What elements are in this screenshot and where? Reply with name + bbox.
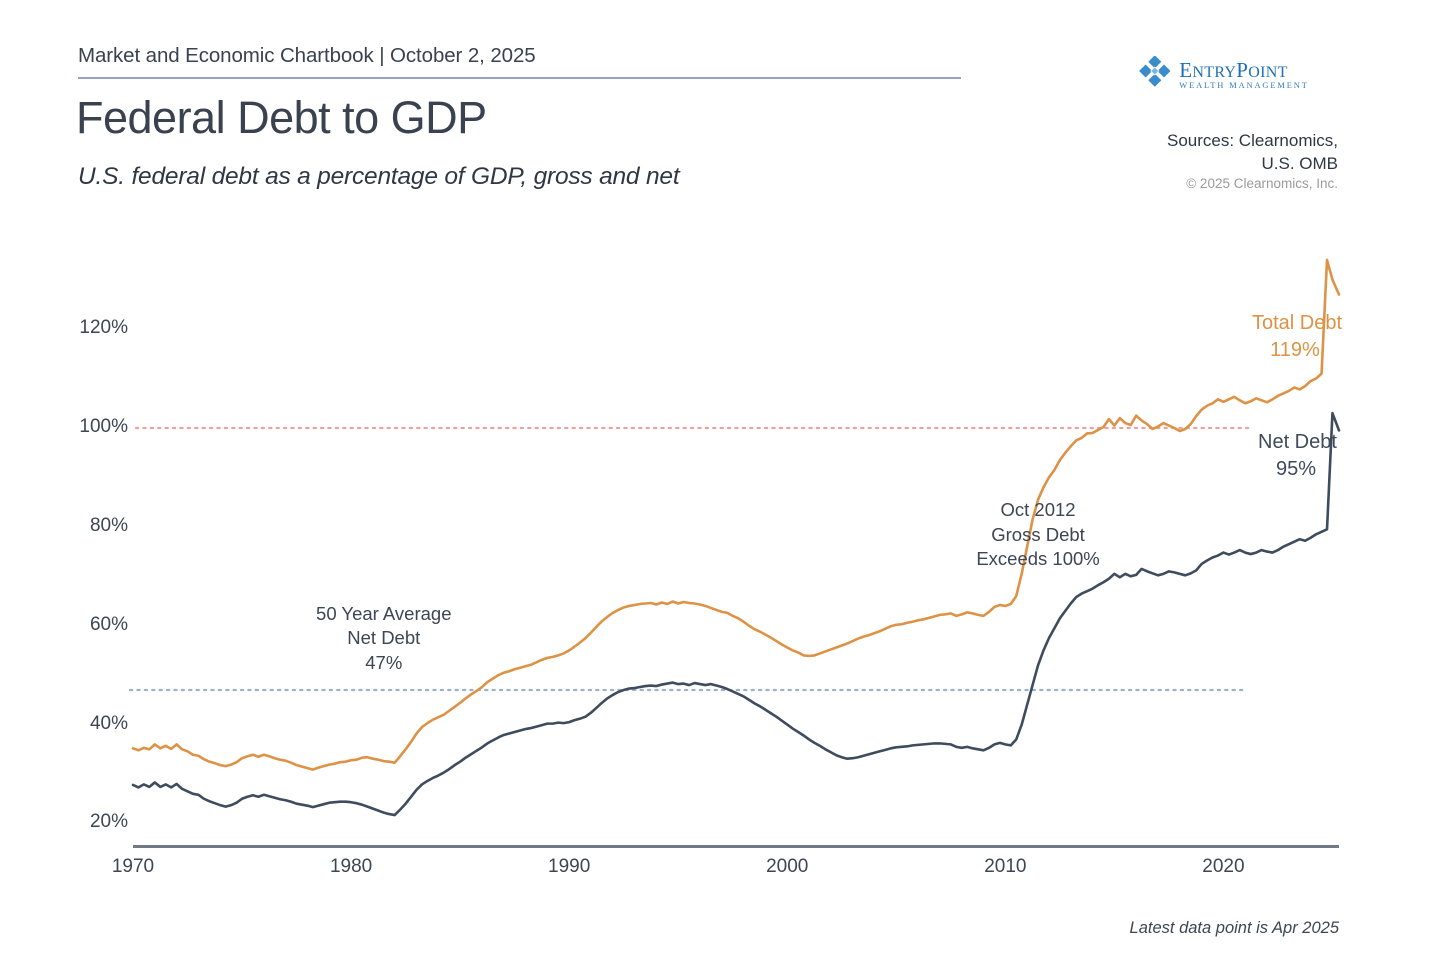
series-label-net-debt: Net Debt 95%: [1258, 429, 1337, 483]
oct-2012-annotation: Oct 2012Gross DebtExceeds 100%: [928, 498, 1148, 572]
y-tick-120: 120%: [48, 317, 128, 339]
x-tick-1980: 1980: [306, 856, 396, 878]
fifty-year-average-annotation-line-3: 47%: [274, 651, 494, 676]
x-tick-2020: 2020: [1178, 856, 1268, 878]
sources-line-1: Sources: Clearnomics,: [1058, 130, 1338, 153]
sources-line-2: U.S. OMB: [1058, 153, 1338, 176]
oct-2012-annotation-line-3: Exceeds 100%: [928, 547, 1148, 572]
logo-name-oint: OINT: [1248, 64, 1287, 81]
fifty-year-average-annotation-line-1: 50 Year Average: [274, 602, 494, 627]
x-tick-2010: 2010: [960, 856, 1050, 878]
series-label-total-debt-text: Total Debt: [1252, 312, 1342, 334]
y-tick-100: 100%: [48, 416, 128, 438]
series-label-net-debt-value: 95%: [1258, 456, 1334, 483]
page-title: Federal Debt to GDP: [76, 92, 487, 144]
series-label-net-debt-text: Net Debt: [1258, 431, 1337, 453]
logo-name-e: E: [1179, 58, 1192, 82]
x-tick-1970: 1970: [88, 856, 178, 878]
x-tick-1990: 1990: [524, 856, 614, 878]
y-tick-20: 20%: [48, 811, 128, 833]
fifty-year-average-annotation: 50 Year AverageNet Debt47%: [274, 602, 494, 676]
sources-label: Sources: Clearnomics, U.S. OMB: [1058, 130, 1338, 176]
logo-name-ntry: NTRY: [1192, 64, 1236, 81]
series-label-total-debt-value: 119%: [1252, 337, 1338, 364]
logo-tagline: WEALTH MANAGEMENT: [1179, 82, 1308, 90]
latest-data-point-note: Latest data point is Apr 2025: [1039, 919, 1339, 938]
header-divider-rule: [78, 77, 961, 79]
fifty-year-average-annotation-line-2: Net Debt: [274, 626, 494, 651]
x-axis-line: [133, 845, 1339, 848]
entrypoint-diamond-icon: [1137, 56, 1173, 95]
entrypoint-wordmark: ENTRYPOINT WEALTH MANAGEMENT: [1179, 60, 1308, 90]
series-line-total-debt: [133, 260, 1339, 770]
page-subtitle: U.S. federal debt as a percentage of GDP…: [78, 163, 679, 191]
y-tick-40: 40%: [48, 713, 128, 735]
chartbook-kicker: Market and Economic Chartbook | October …: [78, 44, 536, 68]
entrypoint-logo: ENTRYPOINT WEALTH MANAGEMENT: [1108, 56, 1338, 95]
series-label-total-debt: Total Debt 119%: [1252, 310, 1342, 364]
copyright-label: © 2025 Clearnomics, Inc.: [1058, 176, 1338, 191]
logo-name-p: P: [1236, 58, 1248, 82]
y-tick-60: 60%: [48, 614, 128, 636]
oct-2012-annotation-line-2: Gross Debt: [928, 523, 1148, 548]
oct-2012-annotation-line-1: Oct 2012: [928, 498, 1148, 523]
x-tick-2000: 2000: [742, 856, 832, 878]
y-tick-80: 80%: [48, 515, 128, 537]
